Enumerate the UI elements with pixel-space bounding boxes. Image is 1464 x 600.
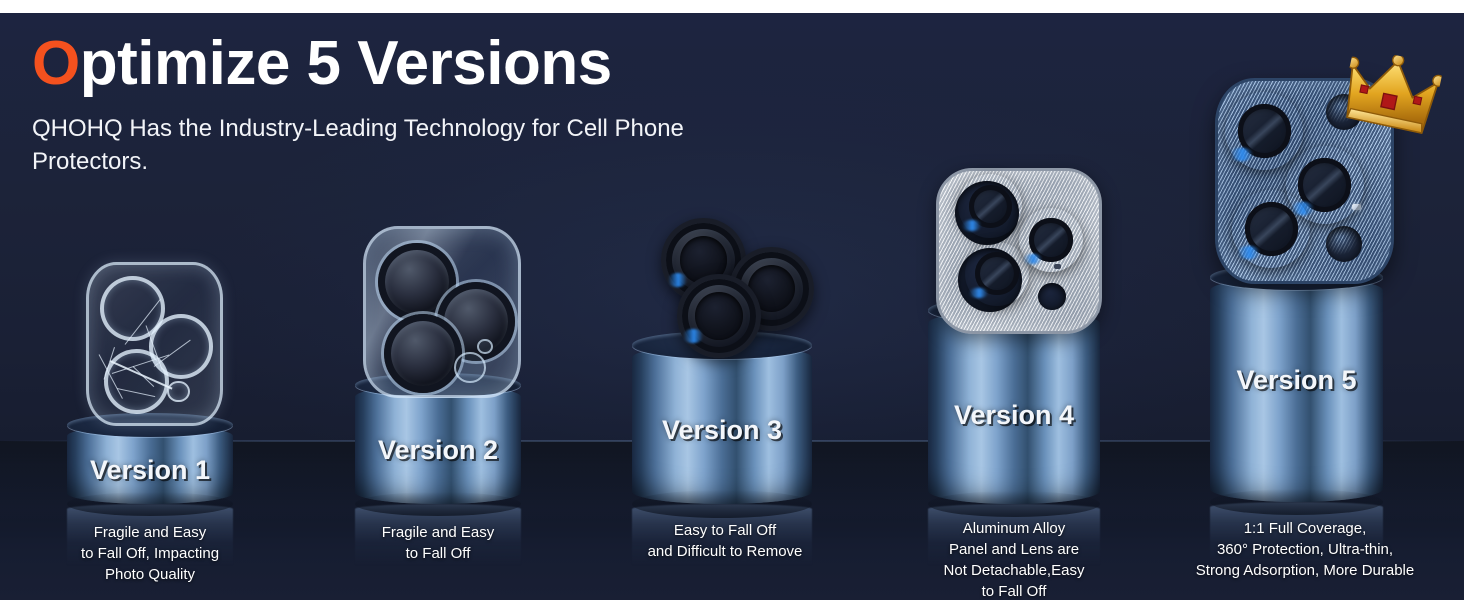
blue-accent-arc [683,329,702,342]
pedestal-cylinder [632,345,812,504]
pedestal-cylinder [1210,277,1383,502]
podium-version-1: Version 1 [67,425,233,504]
headline-block: Optimize 5 Versions QHOHQ Has the Indust… [32,28,732,178]
blue-accent-arc [969,288,988,298]
flash-ring [167,381,189,402]
pedestal-cylinder [928,310,1100,504]
headline-drop-cap: O [32,29,80,98]
podium-version-2: Version 2 [355,385,521,504]
headline-text: ptimize 5 Versions [80,29,612,98]
lens-ring-bottom-left [677,274,761,358]
version-caption-1: Fragile and Easy to Fall Off, Impacting … [30,522,270,585]
detached-lens-ring-bottom-left [965,242,1029,306]
podium-version-5: Version 5 [1210,277,1383,502]
product-version-4 [936,168,1096,328]
blue-accent-arc [1237,246,1260,258]
product-version-2 [363,226,515,392]
integrated-lens-ring-top-left [1225,92,1303,170]
extra-hole-bottom-right [1326,226,1362,262]
blue-accent-arc [1230,148,1253,160]
pedestal-cylinder [355,385,521,504]
version-caption-2: Fragile and Easy to Fall Off [318,522,558,564]
version-caption-5: 1:1 Full Coverage, 360° Protection, Ultr… [1160,518,1450,581]
page-title: Optimize 5 Versions [32,28,732,100]
product-version-3 [655,218,810,348]
lens-ring-bottom-left [384,314,462,393]
top-white-strip [0,0,1464,13]
blue-accent-arc [962,220,981,230]
podium-version-3: Version 3 [632,345,812,504]
flash-ring [454,352,485,383]
detached-lens-ring-right [1019,208,1083,272]
subheadline: QHOHQ Has the Industry-Leading Technolog… [32,112,732,178]
version-caption-4: Aluminum Alloy Panel and Lens are Not De… [898,518,1130,600]
podium-version-4: Version 4 [928,310,1100,504]
product-comparison-banner: Optimize 5 Versions QHOHQ Has the Indust… [0,0,1464,600]
flash-hole [1038,283,1065,310]
product-version-1 [86,262,217,420]
integrated-lens-ring-bottom-left [1232,190,1310,268]
version-caption-3: Easy to Fall Off and Difficult to Remove [602,520,848,562]
blue-accent-arc [668,273,687,286]
